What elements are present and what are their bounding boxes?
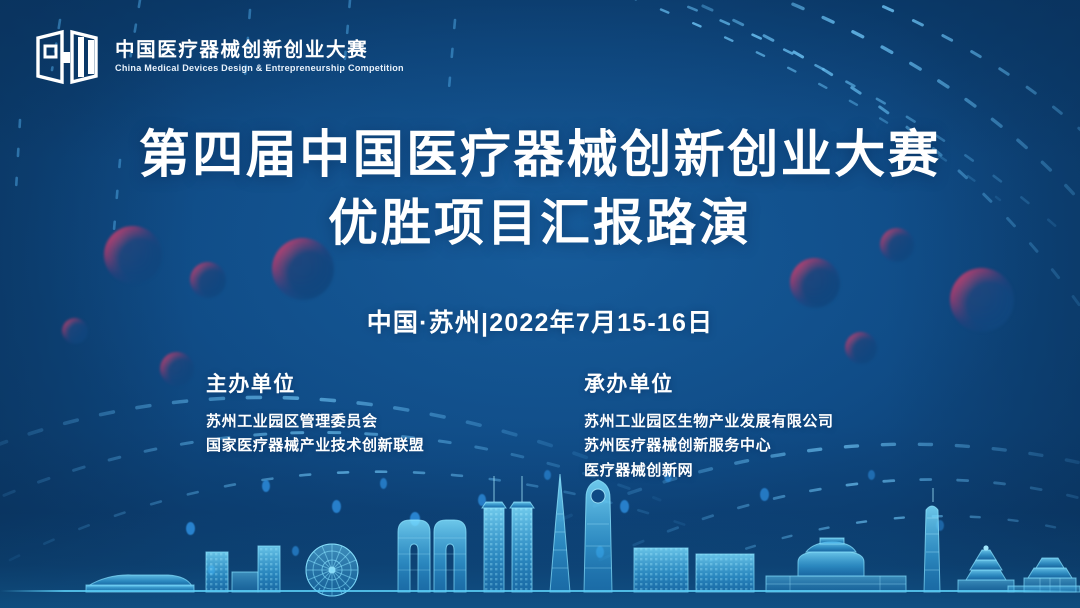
open-door-window-icon — [34, 26, 102, 88]
brand-logo[interactable]: 中国医疗器械创新创业大赛 China Medical Devices Desig… — [34, 26, 410, 88]
brand-logo-text: 中国医疗器械创新创业大赛 China Medical Devices Desig… — [115, 40, 410, 73]
event-date-location: 中国·苏州|2022年7月15-16日 — [0, 303, 1080, 339]
skyline-glow — [0, 512, 1080, 608]
organizer-entry: 苏州医疗器械创新服务中心 — [584, 434, 884, 458]
organizer-heading: 承办单位 — [584, 368, 884, 398]
hero-title-line2: 优胜项目汇报路演 — [0, 195, 1080, 251]
hero-title-block: 第四届中国医疗器械创新创业大赛 优胜项目汇报路演 — [0, 126, 1080, 251]
organizer-heading: 主办单位 — [206, 368, 496, 398]
skyline-baseline — [0, 590, 1080, 592]
organizer-entry: 国家医疗器械产业技术创新联盟 — [206, 434, 496, 458]
organizer-entry: 苏州工业园区管理委员会 — [206, 410, 496, 434]
city-skyline-decoration — [0, 458, 1080, 608]
organizer-entry: 苏州工业园区生物产业发展有限公司 — [584, 410, 884, 434]
brand-name-en: China Medical Devices Design & Entrepren… — [115, 64, 404, 74]
hero-title-line1: 第四届中国医疗器械创新创业大赛 — [0, 126, 1080, 183]
brand-name-cn: 中国医疗器械创新创业大赛 — [115, 40, 410, 60]
poster-canvas: 中国医疗器械创新创业大赛 China Medical Devices Desig… — [0, 0, 1080, 608]
